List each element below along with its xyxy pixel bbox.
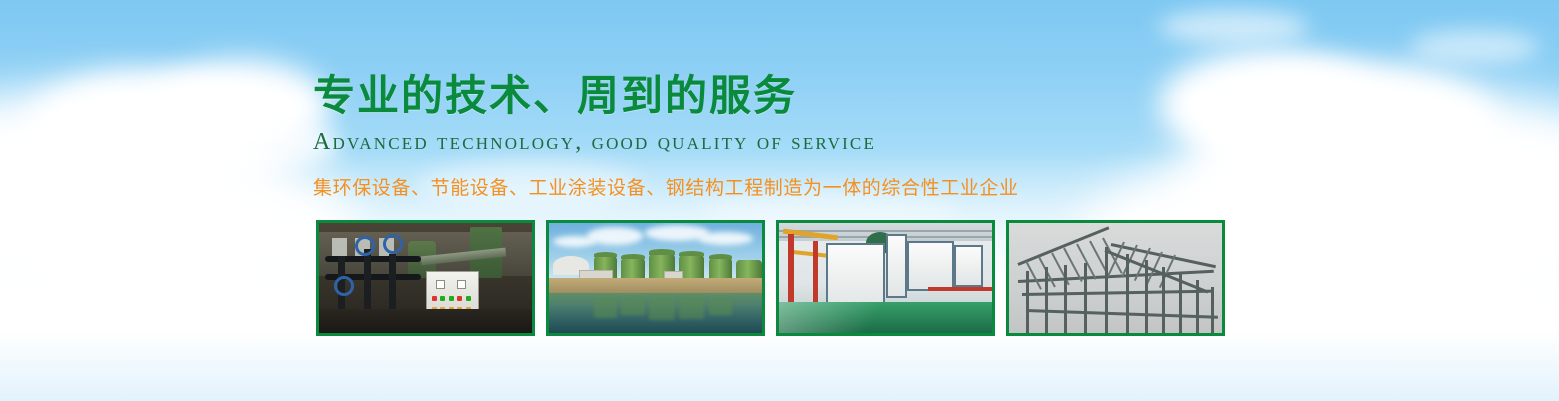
cloud-shape: [150, 60, 330, 155]
cloud-shape: [0, 88, 280, 238]
hero-banner: 专业的技术、周到的服务 Advanced technology, good qu…: [0, 0, 1559, 401]
headline-english: Advanced technology, good quality of ser…: [313, 129, 1313, 156]
company-tagline: 集环保设备、节能设备、工业涂装设备、钢结构工程制造为一体的综合性工业企业: [313, 173, 1313, 200]
headline-chinese: 专业的技术、周到的服务: [313, 72, 1313, 119]
photo-content: [319, 223, 532, 333]
banner-text-block: 专业的技术、周到的服务 Advanced technology, good qu…: [313, 72, 1313, 200]
photo-content: [549, 223, 762, 333]
gallery-photo-steel-structure[interactable]: [1006, 220, 1225, 336]
gallery-photo-sewage-tanks[interactable]: [546, 220, 765, 336]
photo-content: [1009, 223, 1222, 333]
gallery-photo-environmental-equipment[interactable]: [316, 220, 535, 336]
cloud-shape: [0, 150, 360, 310]
photo-gallery: [316, 220, 1225, 336]
cloud-shape: [1409, 30, 1539, 64]
cloud-layer: [0, 0, 1559, 401]
cloud-shape: [1159, 10, 1309, 44]
photo-content: [779, 223, 992, 333]
cloud-shape: [30, 70, 260, 180]
gallery-photo-coating-line[interactable]: [776, 220, 995, 336]
